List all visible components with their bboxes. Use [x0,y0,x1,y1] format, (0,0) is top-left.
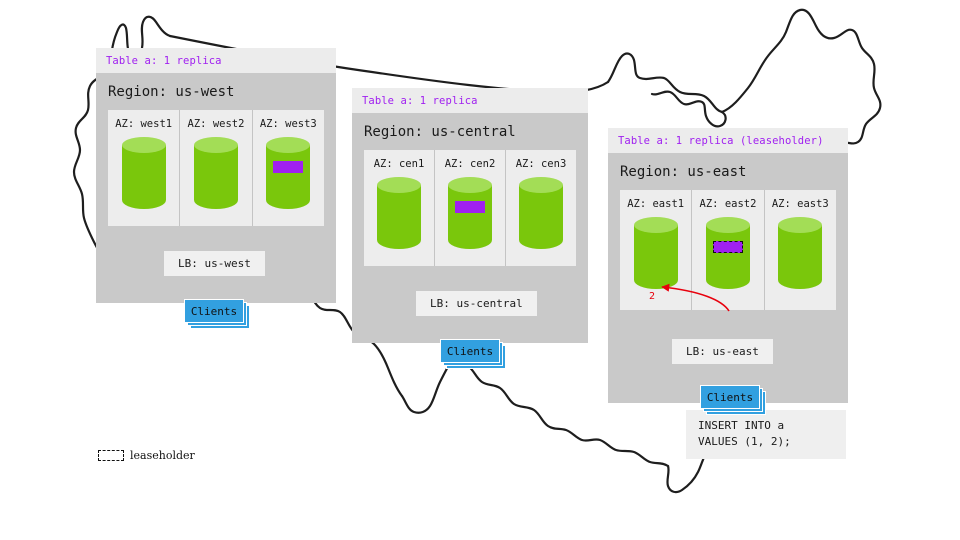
cylinder-body [122,145,166,209]
cylinder-top [194,137,238,153]
clients-button-us-central[interactable]: Clients [440,339,500,363]
sql-statement-box: INSERT INTO a VALUES (1, 2); [686,410,846,459]
az-cell-cen2[interactable]: AZ: cen2 [434,150,505,266]
cylinder-body [778,225,822,289]
node-cylinder-cen2[interactable] [448,177,492,249]
az-label: AZ: east1 [620,198,691,210]
clients-label: Clients [191,305,237,318]
az-cell-west2[interactable]: AZ: west2 [179,110,251,226]
az-cell-east3[interactable]: AZ: east3 [764,190,836,310]
panel-body-us-central: Region: us-central AZ: cen1 AZ: cen2 [352,113,588,343]
az-cell-east2[interactable]: AZ: east2 [691,190,763,310]
region-title: Region: us-west [96,73,336,110]
clients-label: Clients [447,345,493,358]
az-label: AZ: west3 [253,118,324,130]
diagram-canvas: Table a: 1 replica Region: us-west AZ: w… [0,0,960,540]
replica-header-label: Table a: 1 replica (leaseholder) [618,135,838,147]
az-cell-cen3[interactable]: AZ: cen3 [505,150,576,266]
load-balancer-box-us-central[interactable]: LB: us-central [416,291,537,316]
dashed-rect-icon [98,450,124,461]
panel-body-us-west: Region: us-west AZ: west1 AZ: west2 [96,73,336,303]
panel-header-us-west: Table a: 1 replica [96,48,336,73]
az-label: AZ: cen1 [364,158,434,170]
node-cylinder-west1[interactable] [122,137,166,209]
az-strip-us-west: AZ: west1 AZ: west2 AZ: west3 [108,110,324,226]
load-balancer-box-us-east[interactable]: LB: us-east [672,339,773,364]
cylinder-body [377,185,421,249]
cylinder-body [266,145,310,209]
cylinder-top [519,177,563,193]
clients-card-front[interactable]: Clients [184,299,244,323]
cylinder-top [778,217,822,233]
region-panel-us-east: Table a: 1 replica (leaseholder) Region:… [608,128,848,403]
node-cylinder-east3[interactable] [778,217,822,289]
node-cylinder-cen1[interactable] [377,177,421,249]
arrow-step-number: 2 [649,291,655,302]
cylinder-body [706,225,750,289]
replica-header-label: Table a: 1 replica [106,55,326,67]
cylinder-body [194,145,238,209]
replica-header-label: Table a: 1 replica [362,95,578,107]
cylinder-body [634,225,678,289]
clients-label: Clients [707,391,753,404]
clients-card-front[interactable]: Clients [440,339,500,363]
az-label: AZ: east2 [692,198,763,210]
legend-label: leaseholder [130,449,195,462]
az-cell-east1[interactable]: AZ: east1 [620,190,691,310]
load-balancer-box-us-west[interactable]: LB: us-west [164,251,265,276]
az-label: AZ: cen3 [506,158,576,170]
clients-button-us-east[interactable]: Clients [700,385,760,409]
az-label: AZ: cen2 [435,158,505,170]
region-panel-us-west: Table a: 1 replica Region: us-west AZ: w… [96,48,336,303]
az-label: AZ: west1 [108,118,179,130]
panel-header-us-east: Table a: 1 replica (leaseholder) [608,128,848,153]
panel-body-us-east: Region: us-east AZ: east1 AZ: east2 [608,153,848,403]
legend: leaseholder [98,449,195,462]
cylinder-body [519,185,563,249]
panel-header-us-central: Table a: 1 replica [352,88,588,113]
az-cell-west1[interactable]: AZ: west1 [108,110,179,226]
cylinder-top [266,137,310,153]
node-cylinder-west3[interactable] [266,137,310,209]
region-title: Region: us-east [608,153,848,190]
az-strip-us-central: AZ: cen1 AZ: cen2 AZ: cen3 [364,150,576,266]
cylinder-body [448,185,492,249]
region-title: Region: us-central [352,113,588,150]
leaseholder-marker [273,161,303,173]
cylinder-top [122,137,166,153]
az-label: AZ: west2 [180,118,251,130]
node-cylinder-cen3[interactable] [519,177,563,249]
leaseholder-marker-active [713,241,743,253]
clients-card-front[interactable]: Clients [700,385,760,409]
cylinder-top [448,177,492,193]
region-panel-us-central: Table a: 1 replica Region: us-central AZ… [352,88,588,343]
leaseholder-marker [455,201,485,213]
clients-button-us-west[interactable]: Clients [184,299,244,323]
az-label: AZ: east3 [765,198,836,210]
node-cylinder-east2[interactable] [706,217,750,289]
az-cell-west3[interactable]: AZ: west3 [252,110,324,226]
cylinder-top [377,177,421,193]
cylinder-top [706,217,750,233]
cylinder-top [634,217,678,233]
node-cylinder-east1[interactable] [634,217,678,289]
az-cell-cen1[interactable]: AZ: cen1 [364,150,434,266]
node-cylinder-west2[interactable] [194,137,238,209]
